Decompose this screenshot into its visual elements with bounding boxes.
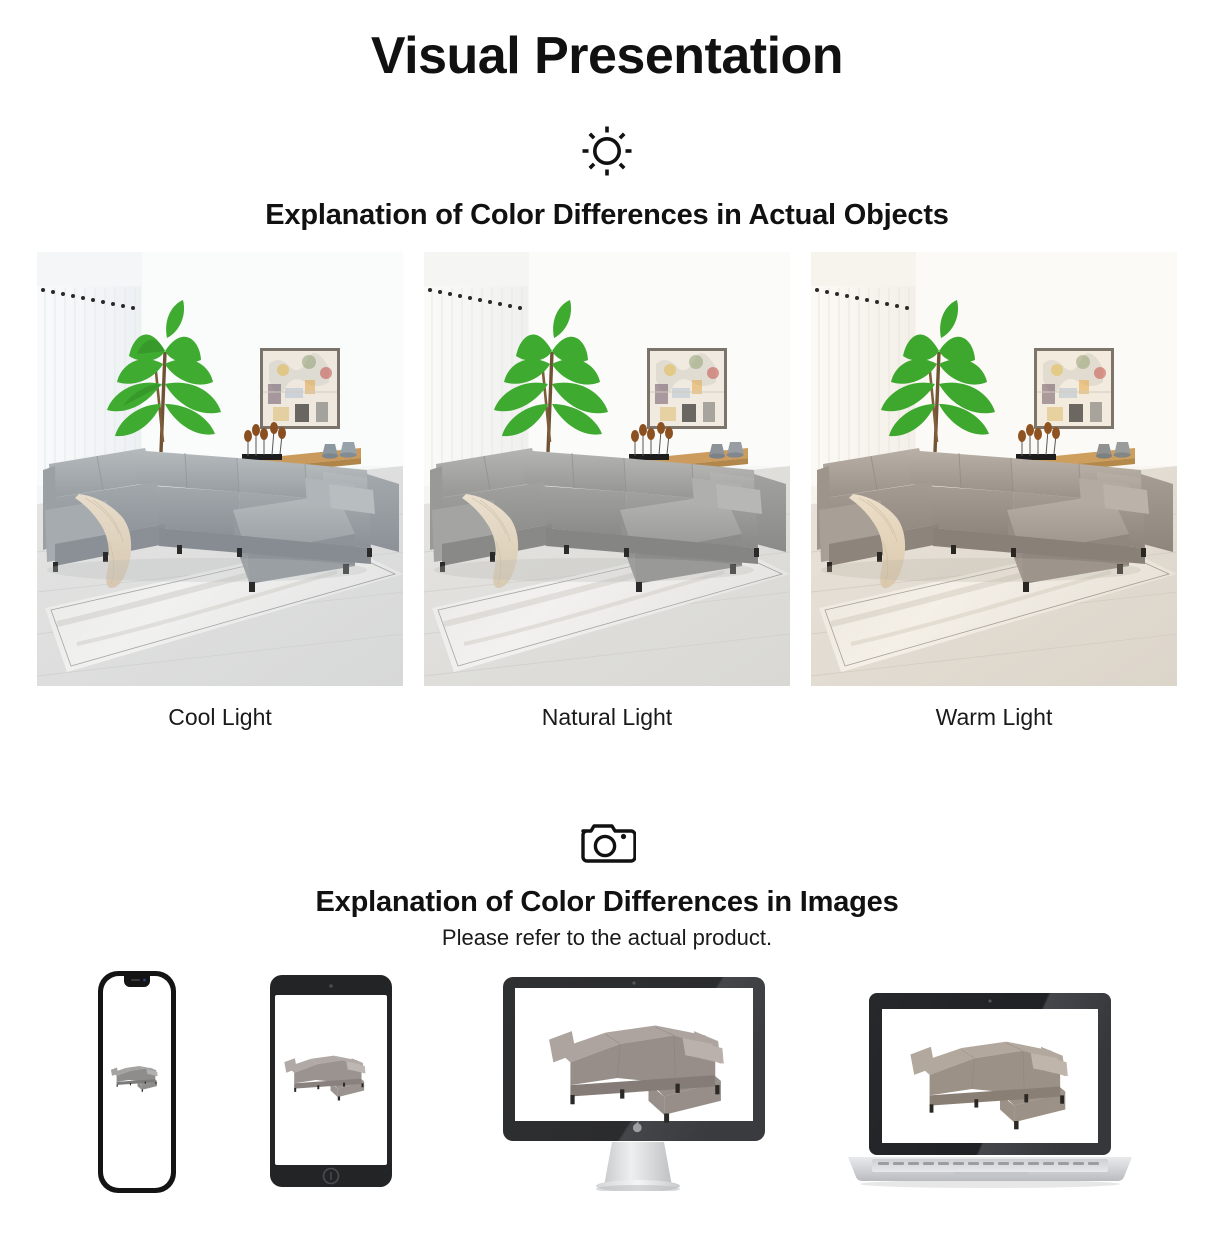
page-root: Visual Presentation Explanation of Color… [0,26,1214,1240]
panel-caption-warm: Warm Light [811,704,1177,731]
sun-icon-row [0,124,1214,183]
wall-artwork [1034,348,1114,429]
device-tablet [268,973,394,1189]
page-title: Visual Presentation [0,26,1214,86]
panel-cool-light: Cool Light [37,252,403,731]
device-monitor [492,975,788,1191]
room-scene-cool [37,252,403,686]
device-laptop [842,991,1140,1191]
wall-artwork [260,348,340,429]
room-scene-natural [424,252,790,686]
camera-icon-row [0,819,1214,870]
wall-artwork [647,348,727,429]
images-section-note: Please refer to the actual product. [0,925,1214,951]
camera-icon [578,819,636,870]
room-scene-warm [811,252,1177,686]
panel-caption-cool: Cool Light [37,704,403,731]
images-section-heading: Explanation of Color Differences in Imag… [0,886,1214,919]
panel-warm-light: Warm Light [811,252,1177,731]
device-mockups [0,969,1214,1219]
objects-section-heading: Explanation of Color Differences in Actu… [0,199,1214,232]
device-phone [96,969,178,1195]
sun-icon [580,124,634,183]
light-comparison-panels: Cool Light [0,252,1214,731]
panel-caption-natural: Natural Light [424,704,790,731]
panel-natural-light: Natural Light [424,252,790,731]
